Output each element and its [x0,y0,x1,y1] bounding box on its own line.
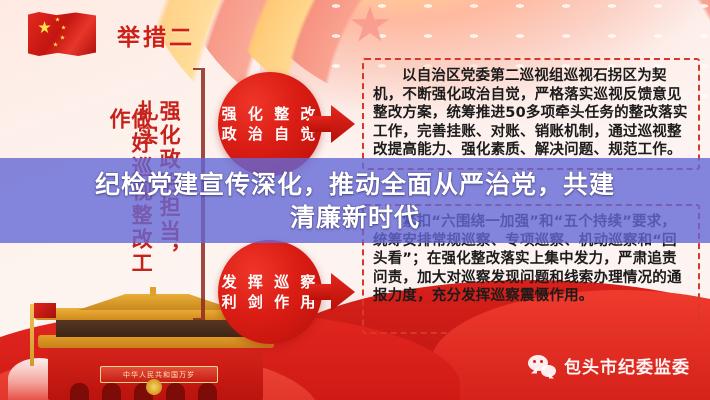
step-2-circle: 发 挥 巡 察 利 剑 作 用 [218,240,322,344]
wechat-eye-2 [540,360,543,363]
china-flag-icon [28,12,96,56]
gate-arch-5 [198,383,217,400]
flag-star-4 [53,42,58,47]
flag-star-3 [60,35,65,40]
gate-finial [150,287,156,296]
gate-flag-left-icon [34,303,56,318]
flag-star-1 [55,17,60,22]
overlay-title-line-1: 纪检党建宣传深化，推动全面从严治党，共建 [73,168,637,201]
right-arrow-icon [309,105,355,143]
gate-ridge [78,294,236,310]
step-1-circle-line1: 强 化 整 改 [222,104,319,124]
watermark: 包头市纪委监委 [528,353,690,378]
gate-arch-4 [166,383,185,400]
gate-arch-1 [70,383,89,400]
step-1-body: 以自治区党委第二巡视组巡视石拐区为契机，不断强化政治自觉，严格落实巡视反馈意见整… [373,67,689,160]
right-arrow-icon [309,273,355,311]
overlay-title: 纪检党建宣传深化，推动全面从严治党，共建 清廉新时代 [0,158,710,243]
wechat-bubble-small [541,365,556,377]
flag-star-large [38,21,51,34]
arrow-head [331,105,355,143]
arrow-head [331,273,355,311]
poster-image: 中华人民共和国万岁 举措二 强化政治担当，扎实 做好巡视整改工作 强 化 整 改… [0,0,710,400]
gate-arch-2 [102,383,121,400]
watermark-label: 包头市纪委监委 [564,353,690,378]
gate-plaque-text: 中华人民共和国万岁 [123,370,195,380]
step-1-text-box: 以自治区党委第二巡视组巡视石拐区为契机，不断强化政治自觉，严格落实巡视反馈意见整… [362,58,700,170]
step-2-circle-line2: 利 剑 作 用 [222,292,319,312]
overlay-title-line-2: 清廉新时代 [268,201,442,234]
step-2-circle-line1: 发 挥 巡 察 [222,272,319,292]
step-1-circle-line2: 政 治 自 觉 [222,124,319,144]
flag-star-2 [61,25,66,30]
wechat-icon [528,355,556,377]
wechat-eye-1 [533,360,536,363]
gate-emblem-icon [146,379,162,395]
section-badge-label: 举措二 [117,18,195,52]
